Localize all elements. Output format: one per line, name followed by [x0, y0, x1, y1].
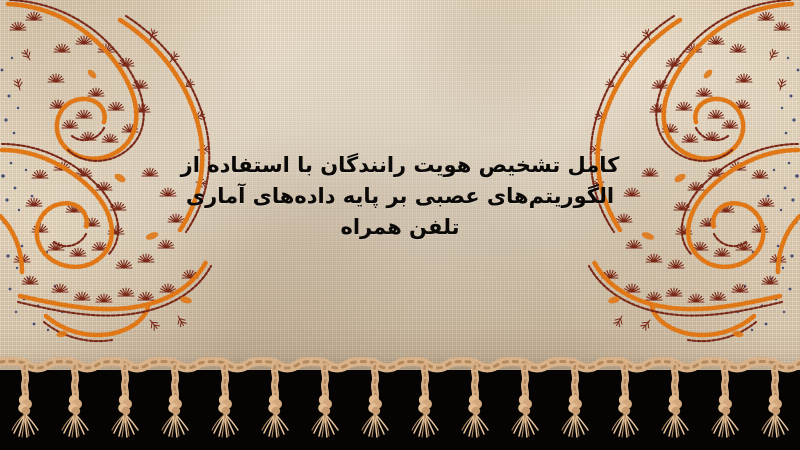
title-line-1: کامل تشخیص هویت رانندگان با استفاده از [150, 150, 650, 181]
fabric-bottom-shading [0, 328, 800, 374]
title-slide: کامل تشخیص هویت رانندگان با استفاده از ا… [0, 0, 800, 450]
black-background-band [0, 370, 800, 450]
slide-title: کامل تشخیص هویت رانندگان با استفاده از ا… [150, 150, 650, 243]
title-line-3: تلفن همراه [150, 212, 650, 243]
title-line-2: الگوریتم‌های عصبی بر پایه داده‌های آماری [150, 181, 650, 212]
